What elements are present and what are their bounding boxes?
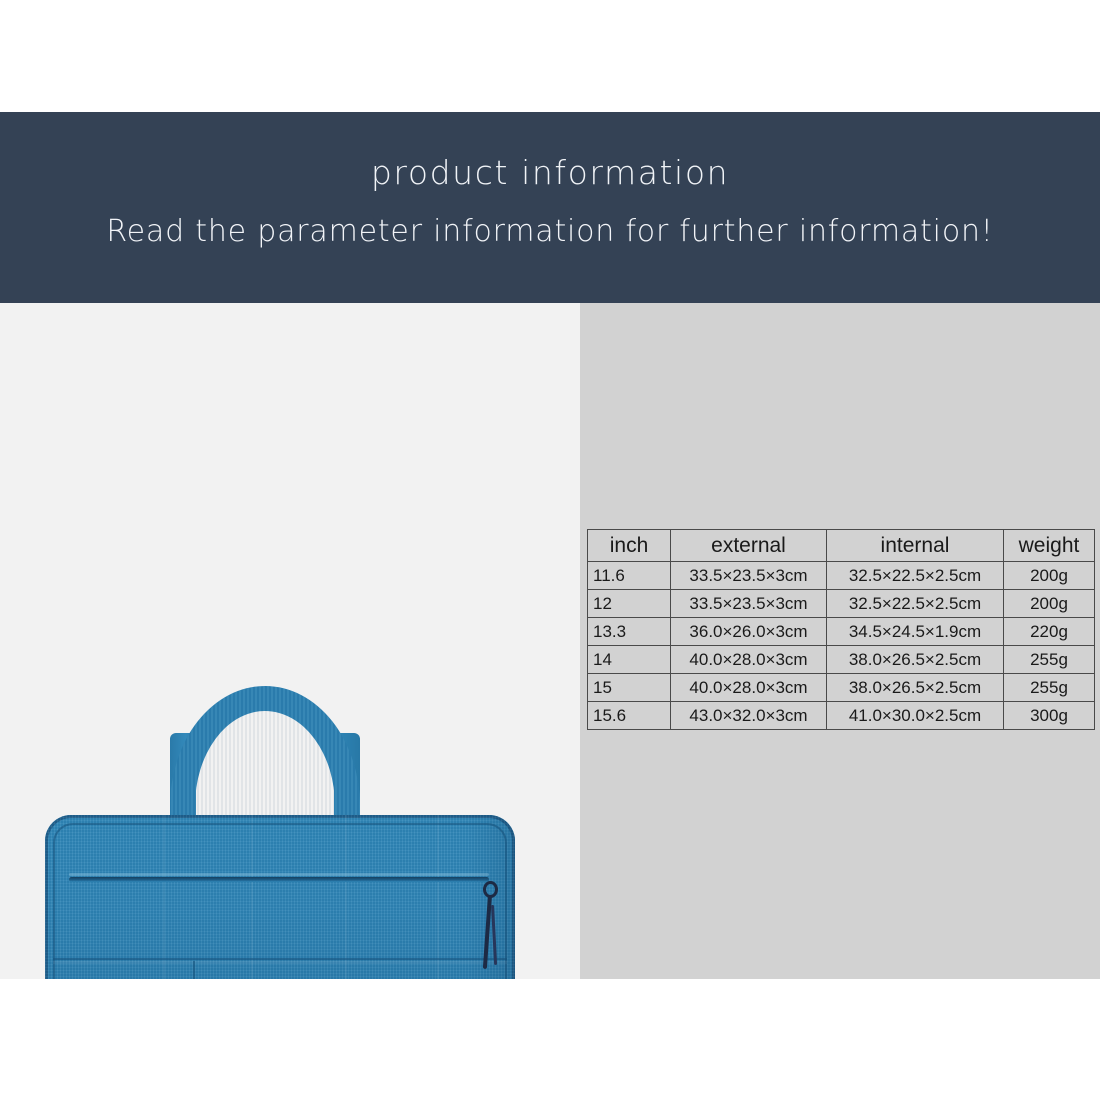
cell-external: 33.5×23.5×3cm bbox=[671, 562, 827, 590]
specifications-table: inch external internal weight 11.6 33.5×… bbox=[587, 529, 1095, 730]
cell-external: 33.5×23.5×3cm bbox=[671, 590, 827, 618]
front-pocket-seam-shadow bbox=[53, 961, 507, 964]
cell-internal: 38.0×26.5×2.5cm bbox=[827, 674, 1004, 702]
zipper-pull-icon bbox=[483, 881, 499, 969]
page-subtitle: Read the parameter information for furth… bbox=[0, 213, 1100, 251]
table-row: 14 40.0×28.0×3cm 38.0×26.5×2.5cm 255g bbox=[588, 646, 1095, 674]
table-row: 13.3 36.0×26.0×3cm 34.5×24.5×1.9cm 220g bbox=[588, 618, 1095, 646]
cell-inch: 13.3 bbox=[588, 618, 671, 646]
fabric-band bbox=[251, 815, 253, 979]
column-header-inch: inch bbox=[588, 530, 671, 562]
cell-inch: 14 bbox=[588, 646, 671, 674]
fabric-band bbox=[437, 815, 439, 979]
fabric-band bbox=[345, 815, 347, 979]
table-header-row: inch external internal weight bbox=[588, 530, 1095, 562]
cell-weight: 300g bbox=[1004, 702, 1095, 730]
cell-external: 36.0×26.0×3cm bbox=[671, 618, 827, 646]
cell-internal: 38.0×26.5×2.5cm bbox=[827, 646, 1004, 674]
table-row: 15.6 43.0×32.0×3cm 41.0×30.0×2.5cm 300g bbox=[588, 702, 1095, 730]
cell-inch: 11.6 bbox=[588, 562, 671, 590]
table-row: 11.6 33.5×23.5×3cm 32.5×22.5×2.5cm 200g bbox=[588, 562, 1095, 590]
fabric-texture bbox=[45, 815, 515, 979]
product-image-panel bbox=[0, 303, 580, 979]
cell-internal: 32.5×22.5×2.5cm bbox=[827, 562, 1004, 590]
table-row: 15 40.0×28.0×3cm 38.0×26.5×2.5cm 255g bbox=[588, 674, 1095, 702]
cell-weight: 255g bbox=[1004, 646, 1095, 674]
product-information-banner: product information Read the parameter i… bbox=[0, 112, 1100, 303]
cell-external: 40.0×28.0×3cm bbox=[671, 674, 827, 702]
top-zipper-slit bbox=[69, 877, 489, 882]
cell-weight: 220g bbox=[1004, 618, 1095, 646]
column-header-internal: internal bbox=[827, 530, 1004, 562]
cell-internal: 34.5×24.5×1.9cm bbox=[827, 618, 1004, 646]
column-header-weight: weight bbox=[1004, 530, 1095, 562]
cell-internal: 41.0×30.0×2.5cm bbox=[827, 702, 1004, 730]
cell-inch: 12 bbox=[588, 590, 671, 618]
zipper-tail-inner bbox=[491, 905, 497, 965]
cell-internal: 32.5×22.5×2.5cm bbox=[827, 590, 1004, 618]
cell-weight: 255g bbox=[1004, 674, 1095, 702]
cell-inch: 15 bbox=[588, 674, 671, 702]
bag-body bbox=[45, 815, 515, 979]
laptop-bag-illustration bbox=[0, 303, 580, 979]
pocket-divider-seam bbox=[193, 961, 195, 979]
column-header-external: external bbox=[671, 530, 827, 562]
table-row: 12 33.5×23.5×3cm 32.5×22.5×2.5cm 200g bbox=[588, 590, 1095, 618]
bag-handle bbox=[170, 686, 360, 836]
cell-inch: 15.6 bbox=[588, 702, 671, 730]
cell-external: 40.0×28.0×3cm bbox=[671, 646, 827, 674]
cell-weight: 200g bbox=[1004, 590, 1095, 618]
page-title: product information bbox=[0, 153, 1100, 193]
front-pocket-seam bbox=[53, 958, 507, 960]
top-zipper-highlight bbox=[69, 873, 489, 876]
cell-weight: 200g bbox=[1004, 562, 1095, 590]
cell-external: 43.0×32.0×3cm bbox=[671, 702, 827, 730]
fabric-band bbox=[163, 815, 165, 979]
